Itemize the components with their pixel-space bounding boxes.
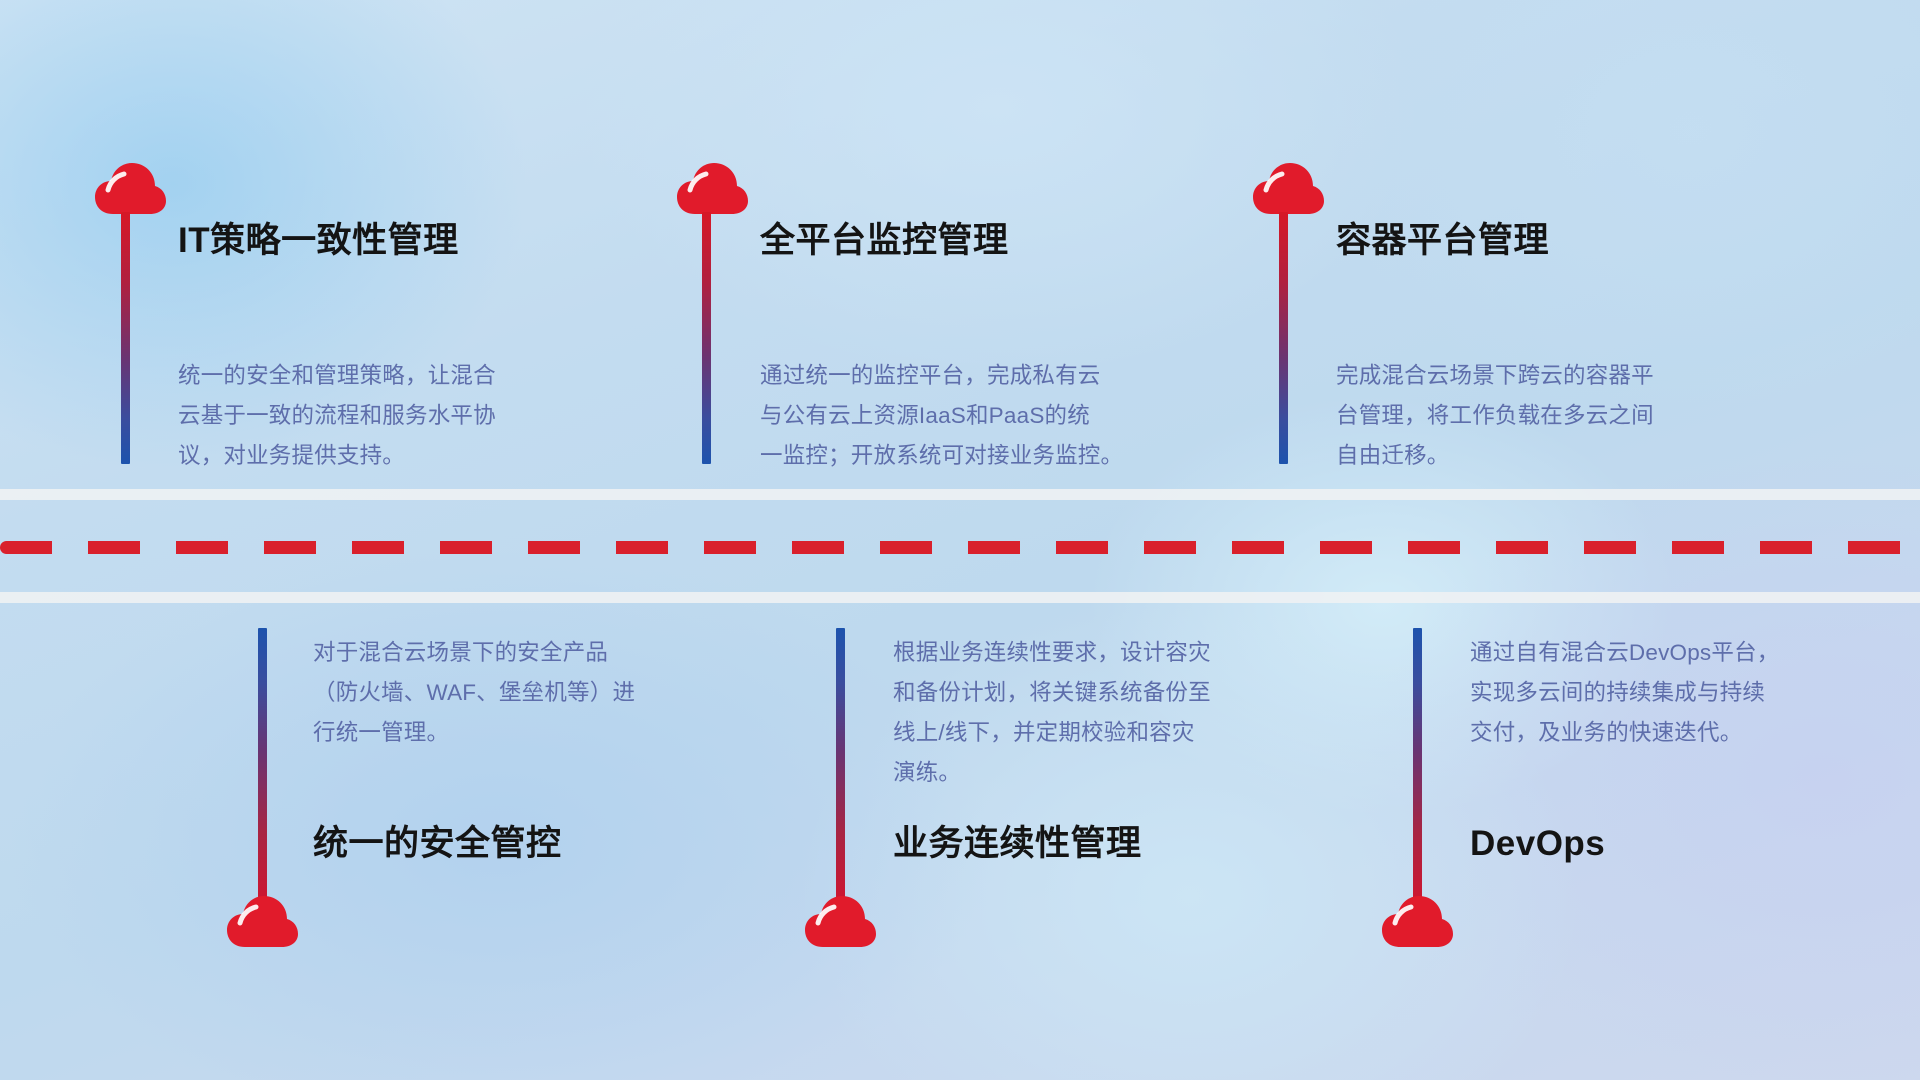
card-body: 通过统一的监控平台，完成私有云 与公有云上资源IaaS和PaaS的统 一监控；开… [760,356,1200,476]
card-title: DevOps [1470,825,1605,864]
cloud-icon [675,160,749,218]
infographic-canvas: IT策略一致性管理 统一的安全和管理策略，让混合 云基于一致的流程和服务水平协 … [0,0,1920,1080]
connector-stem [1413,628,1422,904]
separator-rail-bottom [0,592,1920,603]
cloud-icon [93,160,167,218]
cloud-icon [1380,893,1454,951]
separator-dashed-line [0,541,1920,554]
connector-stem [121,212,130,464]
cloud-icon [1251,160,1325,218]
card-body: 根据业务连续性要求，设计容灾 和备份计划，将关键系统备份至 线上/线下，并定期校… [893,633,1333,793]
card-body: 完成混合云场景下跨云的容器平 台管理，将工作负载在多云之间 自由迁移。 [1336,356,1776,476]
separator-rail-top [0,489,1920,500]
connector-stem [836,628,845,904]
card-body: 对于混合云场景下的安全产品 （防火墙、WAF、堡垒机等）进 行统一管理。 [313,633,743,753]
card-title: 业务连续性管理 [893,825,1142,864]
card-body: 统一的安全和管理策略，让混合 云基于一致的流程和服务水平协 议，对业务提供支持。 [178,356,608,476]
connector-stem [702,212,711,464]
card-title: 容器平台管理 [1336,222,1549,261]
card-body: 通过自有混合云DevOps平台， 实现多云间的持续集成与持续 交付，及业务的快速… [1470,633,1910,753]
card-title: 统一的安全管控 [313,825,562,864]
card-title: 全平台监控管理 [760,222,1009,261]
connector-stem [1279,212,1288,464]
cloud-icon [803,893,877,951]
connector-stem [258,628,267,904]
card-title: IT策略一致性管理 [178,222,459,261]
cloud-icon [225,893,299,951]
